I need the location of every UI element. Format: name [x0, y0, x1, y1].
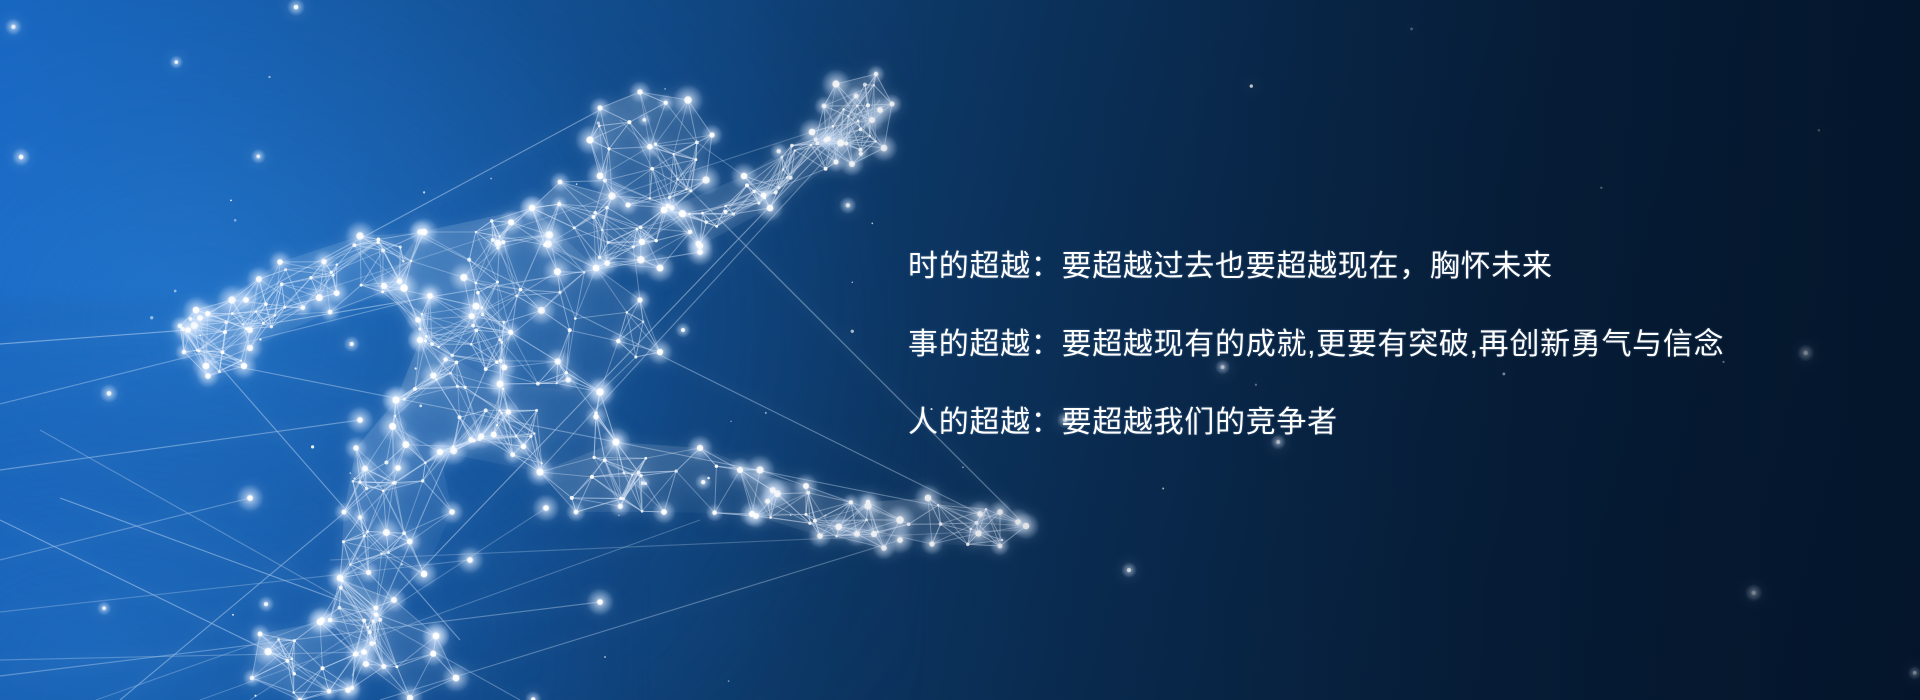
slogan-line-people: 人的超越：要超越我们的竞争者	[908, 384, 1868, 462]
slogan-line-time: 时的超越：要超越过去也要超越现在，胸怀未来	[908, 228, 1868, 306]
slogan-line-matter: 事的超越：要超越现有的成就,更要有突破,再创新勇气与信念	[908, 306, 1868, 384]
hero-banner: 时的超越：要超越过去也要超越现在，胸怀未来 事的超越：要超越现有的成就,更要有突…	[0, 0, 1920, 700]
slogan-text-block: 时的超越：要超越过去也要超越现在，胸怀未来 事的超越：要超越现有的成就,更要有突…	[908, 228, 1868, 462]
